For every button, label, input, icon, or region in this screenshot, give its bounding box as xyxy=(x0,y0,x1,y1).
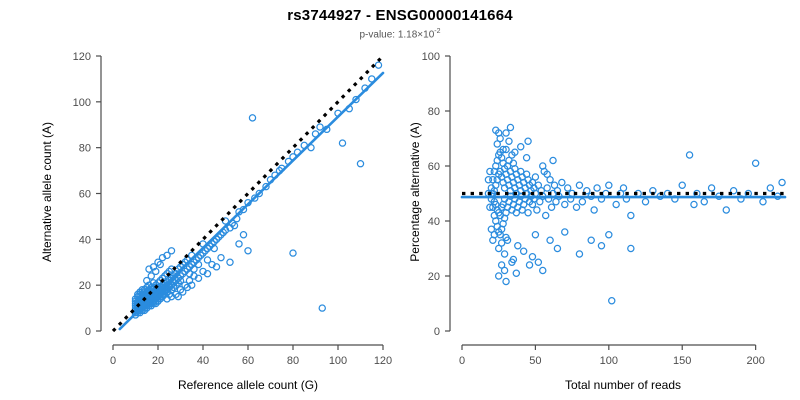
scatter-point xyxy=(518,144,524,150)
scatter-point xyxy=(521,248,527,254)
allele-count-scatter-panel: 020406080100120020406080100120 xyxy=(0,0,400,400)
y-tick-label: 80 xyxy=(428,106,440,118)
x-tick-label: 150 xyxy=(673,355,691,367)
scatter-point xyxy=(525,138,531,144)
scatter-point xyxy=(550,157,556,163)
left-y-axis-label: Alternative allele count (A) xyxy=(40,92,54,292)
scatter-point xyxy=(357,161,363,167)
scatter-point xyxy=(573,204,579,210)
scatter-point xyxy=(562,201,568,207)
scatter-point xyxy=(507,124,513,130)
right-y-axis-label: Percentage alternative (A) xyxy=(408,92,422,292)
scatter-point xyxy=(679,182,685,188)
scatter-point xyxy=(723,207,729,213)
y-tick-label: 60 xyxy=(79,189,91,201)
scatter-point xyxy=(779,179,785,185)
scatter-point xyxy=(501,267,507,273)
x-tick-label: 40 xyxy=(197,355,209,367)
scatter-point xyxy=(620,185,626,191)
scatter-point xyxy=(488,226,494,232)
scatter-point xyxy=(319,305,325,311)
figure-container: rs3744927 - ENSG00000141664 p-value: 1.1… xyxy=(0,0,800,400)
left-x-axis-label: Reference allele count (G) xyxy=(98,378,398,392)
scatter-point xyxy=(753,160,759,166)
x-tick-label: 0 xyxy=(110,355,116,367)
percentage-alternative-scatter-panel: 020406080100050100150200 xyxy=(400,0,800,400)
y-tick-label: 0 xyxy=(434,326,440,338)
y-tick-label: 0 xyxy=(85,326,91,338)
y-tick-label: 100 xyxy=(422,51,440,63)
right-x-axis-label: Total number of reads xyxy=(473,378,773,392)
scatter-point xyxy=(594,185,600,191)
scatter-point xyxy=(686,152,692,158)
scatter-point xyxy=(534,207,540,213)
scatter-point xyxy=(375,62,381,68)
scatter-point xyxy=(606,182,612,188)
scatter-point xyxy=(485,177,491,183)
scatter-point xyxy=(227,259,233,265)
scatter-point xyxy=(767,185,773,191)
y-tick-label: 120 xyxy=(73,51,91,63)
scatter-point xyxy=(591,207,597,213)
scatter-point xyxy=(613,201,619,207)
y-tick-label: 80 xyxy=(79,143,91,155)
data-points-group xyxy=(485,124,785,303)
scatter-point xyxy=(506,138,512,144)
scatter-point xyxy=(628,245,634,251)
scatter-point xyxy=(499,240,505,246)
scatter-point xyxy=(524,155,530,161)
scatter-point xyxy=(532,232,538,238)
scatter-point xyxy=(628,212,634,218)
scatter-point xyxy=(535,259,541,265)
x-tick-label: 80 xyxy=(287,355,299,367)
x-tick-label: 100 xyxy=(600,355,618,367)
scatter-point xyxy=(317,124,323,130)
scatter-point xyxy=(543,212,549,218)
scatter-point xyxy=(588,237,594,243)
y-tick-label: 20 xyxy=(79,280,91,292)
scatter-point xyxy=(168,248,174,254)
scatter-point xyxy=(501,251,507,257)
scatter-point xyxy=(701,199,707,205)
scatter-point xyxy=(487,168,493,174)
scatter-point xyxy=(290,250,296,256)
scatter-point xyxy=(249,115,255,121)
scatter-point xyxy=(547,237,553,243)
scatter-point xyxy=(609,298,615,304)
regression-line xyxy=(120,73,383,329)
scatter-point xyxy=(236,241,242,247)
scatter-point xyxy=(562,229,568,235)
scatter-point xyxy=(565,185,571,191)
x-tick-label: 50 xyxy=(529,355,541,367)
scatter-point xyxy=(579,199,585,205)
scatter-point xyxy=(515,243,521,249)
scatter-point xyxy=(603,190,609,196)
scatter-point xyxy=(606,232,612,238)
scatter-point xyxy=(240,232,246,238)
scatter-point xyxy=(544,185,550,191)
scatter-point xyxy=(503,130,509,136)
x-tick-label: 100 xyxy=(329,355,347,367)
scatter-point xyxy=(526,262,532,268)
scatter-point xyxy=(708,185,714,191)
scatter-point xyxy=(496,273,502,279)
scatter-point xyxy=(532,174,538,180)
y-tick-label: 40 xyxy=(428,216,440,228)
x-tick-label: 60 xyxy=(242,355,254,367)
scatter-point xyxy=(540,267,546,273)
x-tick-label: 200 xyxy=(746,355,764,367)
scatter-point xyxy=(503,278,509,284)
scatter-point xyxy=(548,204,554,210)
scatter-point xyxy=(339,140,345,146)
tick-label-group: 020406080100050100150200 xyxy=(422,51,765,367)
y-tick-label: 100 xyxy=(73,97,91,109)
x-tick-label: 0 xyxy=(459,355,465,367)
y-tick-label: 40 xyxy=(79,234,91,246)
x-tick-label: 20 xyxy=(152,355,164,367)
scatter-point xyxy=(529,254,535,260)
scatter-point xyxy=(559,179,565,185)
x-tick-label: 120 xyxy=(374,355,392,367)
y-tick-label: 60 xyxy=(428,161,440,173)
tick-label-group: 020406080100120020406080100120 xyxy=(73,51,393,367)
scatter-point xyxy=(760,199,766,205)
scatter-point xyxy=(576,182,582,188)
scatter-point xyxy=(245,248,251,254)
y-tick-label: 20 xyxy=(428,271,440,283)
scatter-point xyxy=(525,210,531,216)
scatter-point xyxy=(642,199,648,205)
scatter-point xyxy=(554,245,560,251)
scatter-point xyxy=(218,255,224,261)
scatter-point xyxy=(513,270,519,276)
scatter-point xyxy=(691,201,697,207)
scatter-point xyxy=(598,243,604,249)
scatter-point xyxy=(576,251,582,257)
